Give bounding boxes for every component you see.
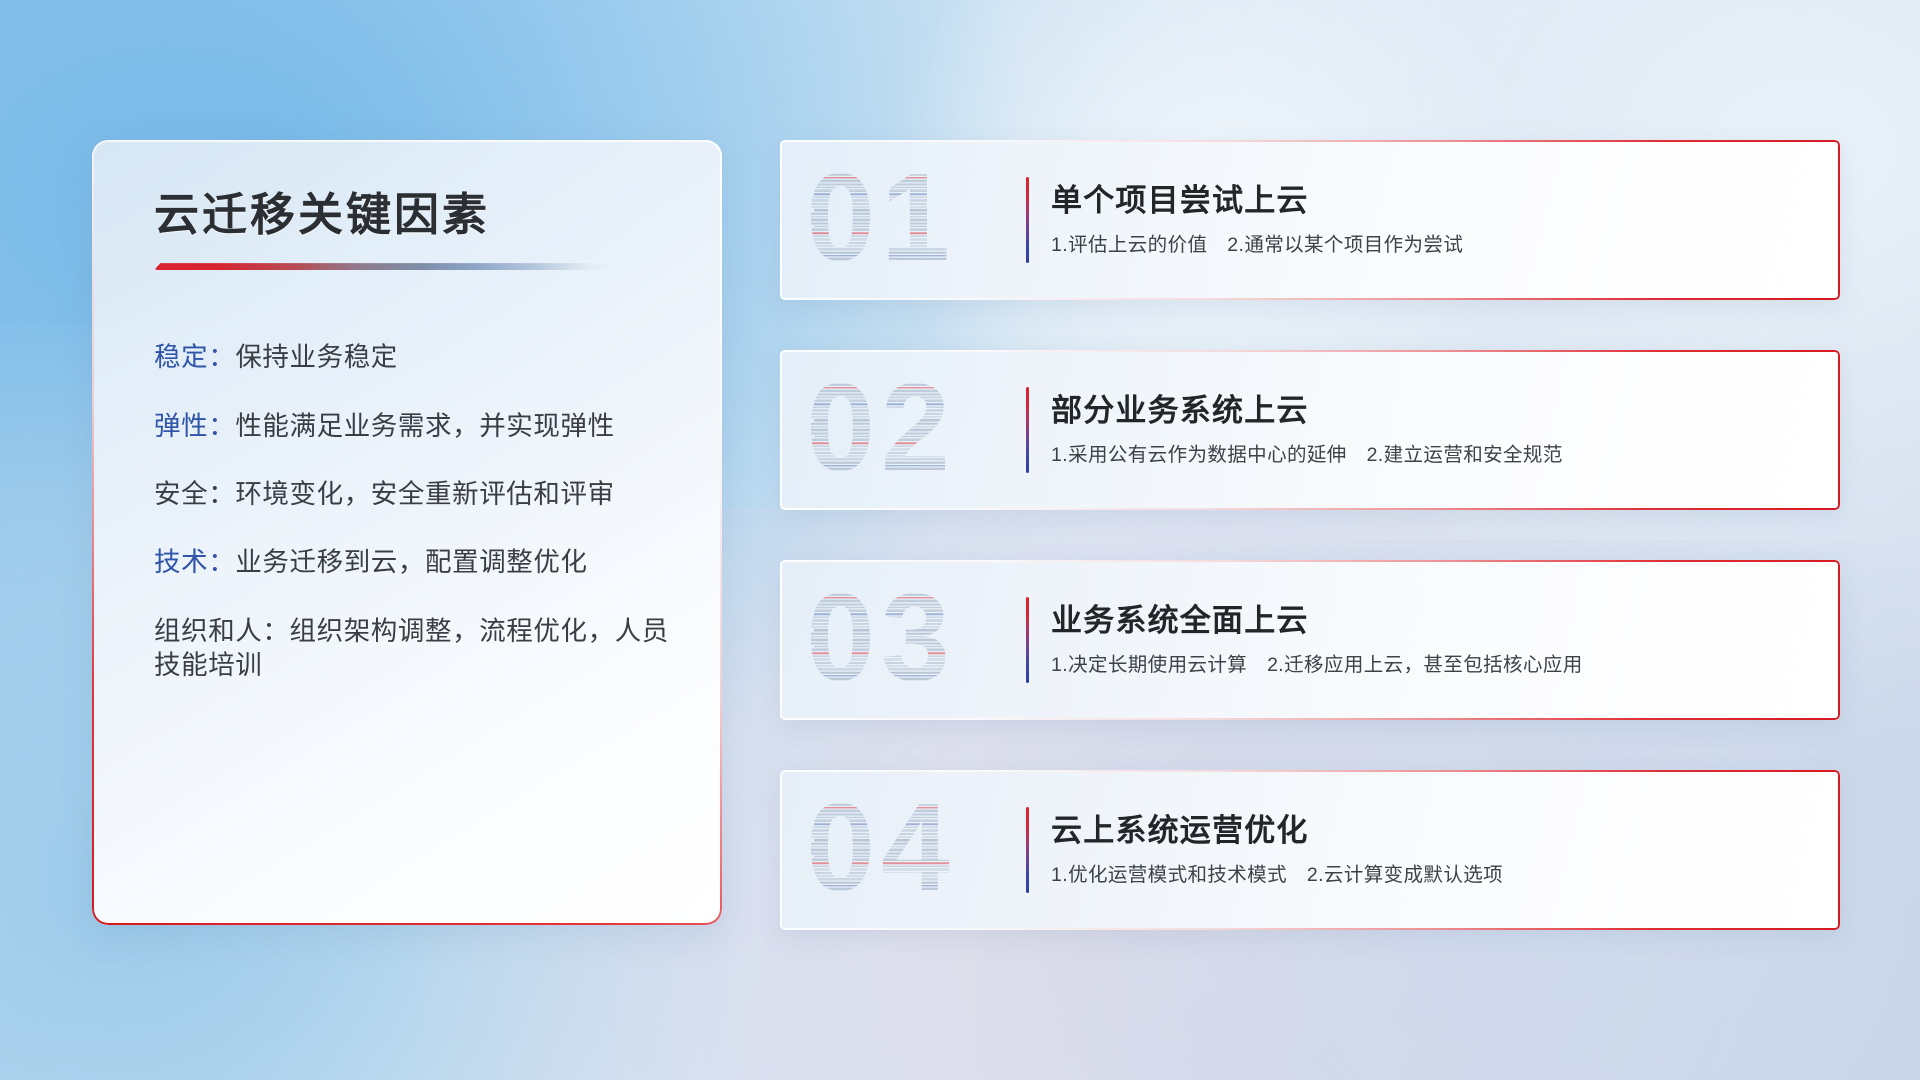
card-title: 部分业务系统上云 — [1051, 392, 1563, 429]
factor-label: 技术： — [154, 547, 235, 577]
migration-stage-card[interactable]: 04云上系统运营优化1.优化运营模式和技术模式 2.云计算变成默认选项 — [780, 770, 1840, 930]
card-subtitle: 1.优化运营模式和技术模式 2.云计算变成默认选项 — [1051, 863, 1503, 888]
page-title: 云迁移关键因素 — [154, 188, 678, 241]
card-text-group: 单个项目尝试上云1.评估上云的价值 2.通常以某个项目作为尝试 — [1051, 182, 1463, 259]
card-body: 单个项目尝试上云1.评估上云的价值 2.通常以某个项目作为尝试 — [1026, 177, 1463, 263]
stage-number-glyph: 02 — [802, 374, 1012, 486]
card-subtitle: 1.评估上云的价值 2.通常以某个项目作为尝试 — [1051, 233, 1463, 258]
title-underline-rule — [154, 263, 612, 270]
card-accent-divider — [1026, 807, 1029, 893]
card-accent-divider — [1026, 177, 1029, 263]
stage-number-glyph: 04 — [802, 794, 1012, 906]
factor-body: 性能满足业务需求，并实现弹性 — [235, 411, 614, 441]
stage-number-glyph: 03 — [802, 584, 1012, 696]
factor-body: 保持业务稳定 — [235, 342, 398, 372]
stage-number-glyph: 01 — [802, 164, 1012, 276]
card-accent-divider — [1026, 597, 1029, 683]
card-accent-divider — [1026, 387, 1029, 473]
card-title: 业务系统全面上云 — [1051, 602, 1583, 639]
card-body: 业务系统全面上云1.决定长期使用云计算 2.迁移应用上云，甚至包括核心应用 — [1026, 597, 1583, 683]
card-text-group: 业务系统全面上云1.决定长期使用云计算 2.迁移应用上云，甚至包括核心应用 — [1051, 602, 1583, 679]
card-subtitle: 1.采用公有云作为数据中心的延伸 2.建立运营和安全规范 — [1051, 443, 1563, 468]
card-text-group: 部分业务系统上云1.采用公有云作为数据中心的延伸 2.建立运营和安全规范 — [1051, 392, 1563, 469]
migration-stage-card[interactable]: 02部分业务系统上云1.采用公有云作为数据中心的延伸 2.建立运营和安全规范 — [780, 350, 1840, 510]
card-body: 部分业务系统上云1.采用公有云作为数据中心的延伸 2.建立运营和安全规范 — [1026, 387, 1563, 473]
card-title: 云上系统运营优化 — [1051, 812, 1503, 849]
factor-row: 稳定：保持业务稳定 — [154, 340, 678, 374]
factor-list: 稳定：保持业务稳定弹性：性能满足业务需求，并实现弹性安全：环境变化，安全重新评估… — [154, 340, 678, 683]
card-body: 云上系统运营优化1.优化运营模式和技术模式 2.云计算变成默认选项 — [1026, 807, 1503, 893]
card-text-group: 云上系统运营优化1.优化运营模式和技术模式 2.云计算变成默认选项 — [1051, 812, 1503, 889]
key-factors-panel: 云迁移关键因素 稳定：保持业务稳定弹性：性能满足业务需求，并实现弹性安全：环境变… — [92, 140, 722, 925]
factor-label: 组织和人： — [154, 616, 290, 646]
factor-row: 弹性：性能满足业务需求，并实现弹性 — [154, 409, 678, 443]
card-subtitle: 1.决定长期使用云计算 2.迁移应用上云，甚至包括核心应用 — [1051, 653, 1583, 678]
factor-label: 弹性： — [154, 411, 235, 441]
migration-stage-card-list: 01单个项目尝试上云1.评估上云的价值 2.通常以某个项目作为尝试02部分业务系… — [780, 140, 1840, 930]
factor-row: 安全：环境变化，安全重新评估和评审 — [154, 477, 678, 511]
key-factors-panel-content: 云迁移关键因素 稳定：保持业务稳定弹性：性能满足业务需求，并实现弹性安全：环境变… — [92, 140, 722, 683]
factor-body: 环境变化，安全重新评估和评审 — [235, 479, 614, 509]
factor-body: 业务迁移到云，配置调整优化 — [235, 547, 587, 577]
migration-stage-card[interactable]: 03业务系统全面上云1.决定长期使用云计算 2.迁移应用上云，甚至包括核心应用 — [780, 560, 1840, 720]
migration-stage-card[interactable]: 01单个项目尝试上云1.评估上云的价值 2.通常以某个项目作为尝试 — [780, 140, 1840, 300]
factor-label: 稳定： — [154, 342, 235, 372]
factor-row: 技术：业务迁移到云，配置调整优化 — [154, 545, 678, 579]
factor-label: 安全： — [154, 479, 235, 509]
card-title: 单个项目尝试上云 — [1051, 182, 1463, 219]
factor-row: 组织和人：组织架构调整，流程优化，人员技能培训 — [154, 614, 678, 683]
